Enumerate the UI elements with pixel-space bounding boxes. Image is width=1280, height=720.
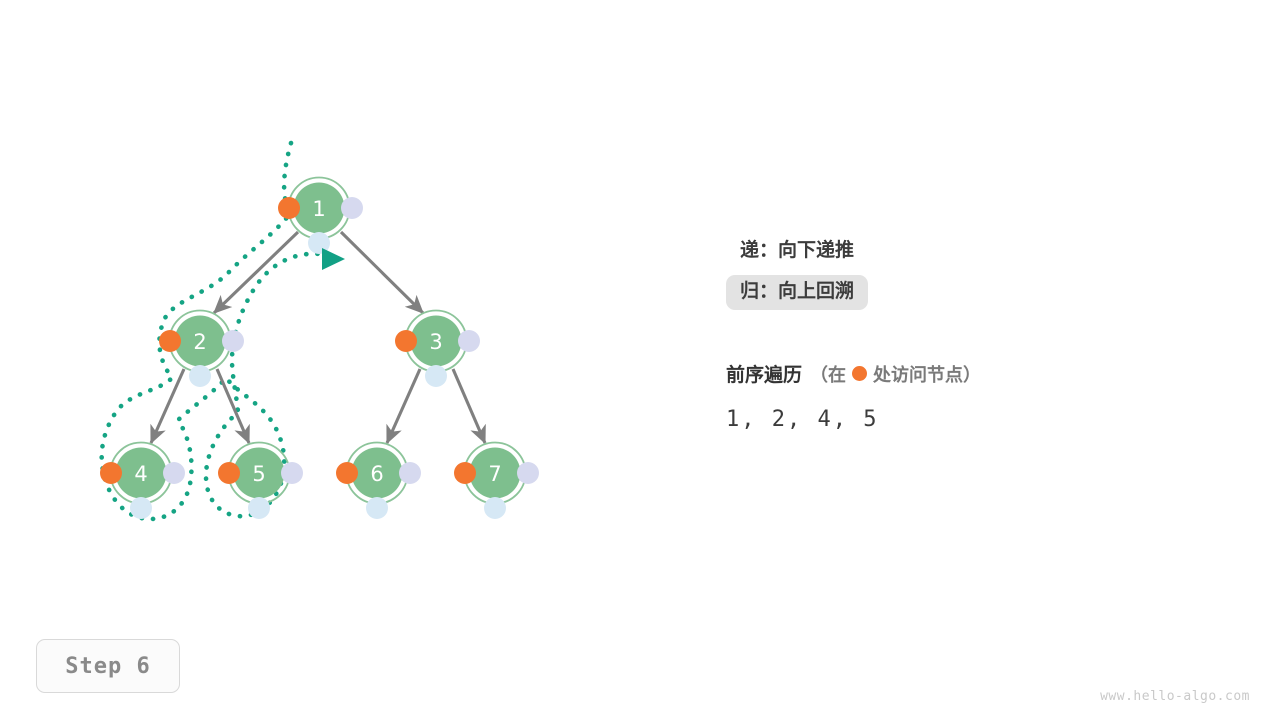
tree-node-5[interactable]: 5 <box>218 443 303 520</box>
legend-panel: 递：向下递推 归：向上回溯 <box>726 234 1166 310</box>
bottom-dot-node-6 <box>366 497 388 519</box>
visit-dot-node-4 <box>100 462 122 484</box>
node-label-4: 4 <box>134 462 147 486</box>
bottom-dot-node-4 <box>130 497 152 519</box>
node-label-2: 2 <box>193 330 206 354</box>
right-dot-node-2 <box>222 330 244 352</box>
right-dot-node-1 <box>341 197 363 219</box>
legend-label-backtrack: 归： <box>740 281 778 302</box>
visit-dot-icon <box>852 366 867 381</box>
current-position-triangle-icon <box>322 248 345 270</box>
tree-node-4[interactable]: 4 <box>100 443 185 520</box>
right-dot-node-3 <box>458 330 480 352</box>
visit-dot-node-6 <box>336 462 358 484</box>
visit-dot-node-1 <box>278 197 300 219</box>
tree-nodes: 1 2 3 4 <box>100 178 539 520</box>
edge-2-5 <box>217 369 249 443</box>
legend-label-recurse: 递： <box>740 240 778 261</box>
step-badge: Step 6 <box>36 639 180 693</box>
legend-desc-backtrack: 向上回溯 <box>778 281 854 302</box>
node-label-7: 7 <box>488 462 501 486</box>
visit-dot-node-5 <box>218 462 240 484</box>
traversal-title-line: 前序遍历 （在 处访问节点） <box>726 360 1196 387</box>
tree-node-7[interactable]: 7 <box>454 443 539 520</box>
bottom-dot-node-3 <box>425 365 447 387</box>
right-dot-node-6 <box>399 462 421 484</box>
watermark: www.hello-algo.com <box>1100 689 1250 704</box>
traversal-paren-close: 处访问节点） <box>873 361 981 387</box>
edge-3-6 <box>387 369 420 443</box>
edge-1-3 <box>341 232 423 313</box>
bottom-dot-node-2 <box>189 365 211 387</box>
traversal-title: 前序遍历 <box>726 360 802 387</box>
traversal-result: 1, 2, 4, 5 <box>726 407 1196 432</box>
edge-3-7 <box>453 369 485 443</box>
visit-dot-node-3 <box>395 330 417 352</box>
right-dot-node-5 <box>281 462 303 484</box>
node-label-3: 3 <box>429 330 442 354</box>
node-label-1: 1 <box>312 197 325 221</box>
legend-desc-recurse: 向下递推 <box>778 240 854 261</box>
right-dot-node-4 <box>163 462 185 484</box>
edge-2-4 <box>151 369 184 443</box>
visit-dot-node-7 <box>454 462 476 484</box>
traversal-paren-open: （在 <box>810 361 846 387</box>
bottom-dot-node-7 <box>484 497 506 519</box>
bottom-dot-node-5 <box>248 497 270 519</box>
legend-row-recurse: 递：向下递推 <box>726 234 868 269</box>
node-label-6: 6 <box>370 462 383 486</box>
node-label-5: 5 <box>252 462 265 486</box>
traversal-order-block: 前序遍历 （在 处访问节点） 1, 2, 4, 5 <box>726 360 1196 432</box>
visit-dot-node-2 <box>159 330 181 352</box>
right-dot-node-7 <box>517 462 539 484</box>
tree-node-6[interactable]: 6 <box>336 443 421 520</box>
tree-node-3[interactable]: 3 <box>395 311 480 388</box>
legend-row-backtrack: 归：向上回溯 <box>726 275 868 310</box>
